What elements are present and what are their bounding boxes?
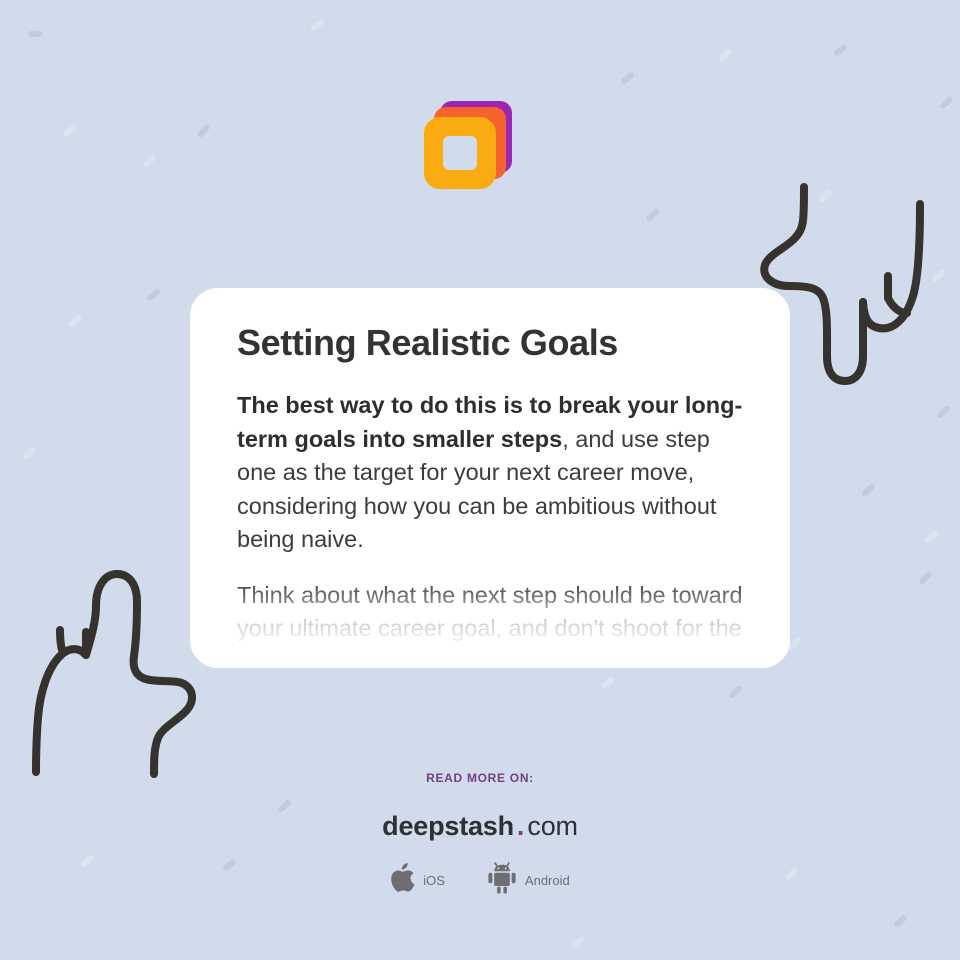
- confetti-dash: [310, 18, 326, 32]
- paragraph-2-rest: Think about what the next step should be…: [237, 582, 743, 668]
- logo-inner-cutout: [443, 136, 477, 170]
- paragraph-2: Think about what the next step should be…: [237, 579, 743, 668]
- wordmark-tld: com: [527, 811, 577, 841]
- confetti-dash: [918, 571, 933, 586]
- store-badge-android[interactable]: Android: [487, 862, 570, 899]
- confetti-dash: [22, 446, 37, 460]
- confetti-dash: [718, 48, 733, 62]
- confetti-dash: [861, 483, 876, 498]
- confetti-dash: [931, 269, 946, 284]
- confetti-dash: [62, 124, 77, 138]
- android-icon: [487, 862, 517, 899]
- confetti-dash: [728, 685, 743, 700]
- confetti-dash: [788, 636, 803, 651]
- store-badge-ios[interactable]: iOS: [390, 863, 445, 898]
- confetti-dash: [924, 530, 939, 544]
- confetti-dash: [833, 43, 849, 57]
- deepstash-quote-poster: Setting Realistic Goals The best way to …: [0, 0, 960, 960]
- read-more-label: READ MORE ON:: [0, 771, 960, 785]
- paragraph-1: The best way to do this is to break your…: [237, 389, 743, 557]
- confetti-dash: [146, 288, 161, 302]
- confetti-dash: [620, 71, 635, 85]
- wordmark-name: deepstash: [382, 811, 514, 841]
- confetti-dash: [645, 208, 660, 223]
- quote-card: Setting Realistic Goals The best way to …: [190, 288, 790, 668]
- apple-icon: [390, 863, 415, 898]
- deepstash-logo: [424, 101, 524, 201]
- confetti-dash: [939, 96, 954, 111]
- confetti-dash: [893, 914, 908, 928]
- confetti-dash: [571, 935, 586, 949]
- confetti-dash: [940, 97, 955, 111]
- confetti-dash: [196, 123, 210, 138]
- confetti-dash: [28, 31, 43, 37]
- wordmark-dot: .: [514, 811, 528, 841]
- confetti-dash: [142, 154, 157, 169]
- pointing-hand-icon-bottom-left: [22, 560, 202, 787]
- store-label-ios: iOS: [423, 873, 445, 888]
- confetti-dash: [600, 676, 615, 690]
- deepstash-wordmark[interactable]: deepstash.com: [0, 811, 960, 842]
- store-badges: iOS Android: [0, 862, 960, 899]
- confetti-dash: [818, 189, 833, 203]
- confetti-dash: [936, 405, 951, 420]
- page-title: Setting Realistic Goals: [237, 322, 743, 363]
- confetti-dash: [68, 314, 83, 329]
- store-label-android: Android: [525, 873, 570, 888]
